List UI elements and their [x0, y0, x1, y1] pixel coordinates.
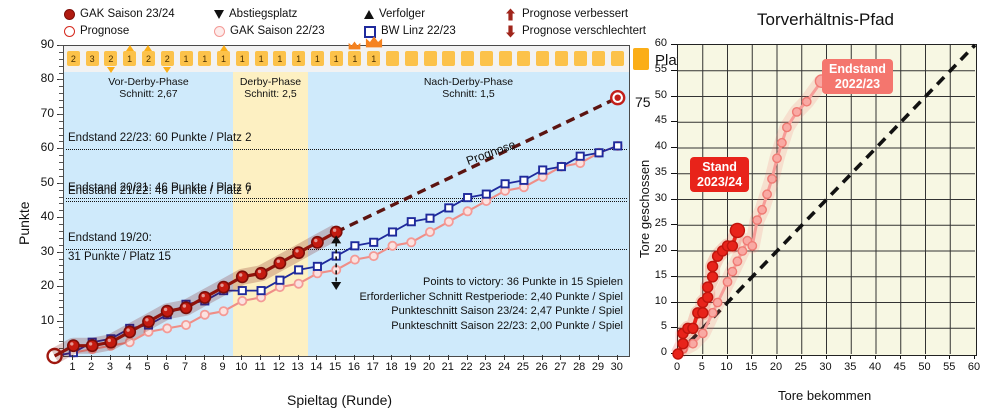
left-x-tick-label: 20	[420, 361, 438, 373]
series-point	[713, 298, 721, 306]
reference-line-label: 31 Punkte / Platz 15	[68, 251, 171, 263]
series-point	[703, 292, 713, 302]
pink-open-circle-icon	[214, 26, 225, 37]
left-x-tick	[166, 355, 167, 360]
platz-marker-box	[633, 48, 649, 70]
right-y-tick	[671, 70, 677, 71]
left-x-tick-label: 28	[570, 361, 588, 373]
left-x-tick-label: 12	[270, 361, 288, 373]
series-point	[502, 180, 509, 187]
right-y-tick	[671, 96, 677, 97]
series-point	[351, 242, 358, 249]
left-x-tick	[316, 355, 317, 360]
left-x-tick-label: 15	[326, 361, 344, 373]
left-x-tick-label: 18	[382, 361, 400, 373]
darkred-filled-circle-icon	[64, 9, 75, 20]
reference-line-label: Endstand 22/23: 60 Punkte / Platz 2	[68, 132, 252, 144]
right-y-tick	[671, 173, 677, 174]
legend-label: Abstiegsplatz	[229, 9, 297, 21]
legend-item-bw-linz: BW Linz 22/23	[364, 26, 504, 38]
left-y-tick-label: 80	[28, 71, 54, 85]
right-x-tick-label: 25	[791, 361, 811, 373]
left-y-tick-label: 20	[28, 278, 54, 292]
tag-line-1: Stand	[697, 160, 742, 175]
series-point-highlight	[239, 273, 242, 276]
right-y-tick-label: 35	[645, 166, 667, 178]
right-x-tick-label: 15	[741, 361, 761, 373]
right-x-tick-label: 10	[717, 361, 737, 373]
series-point-highlight	[314, 239, 317, 242]
legend-label: BW Linz 22/23	[381, 26, 456, 38]
series-point	[763, 190, 771, 198]
left-x-axis-title: Spieltag (Runde)	[287, 392, 392, 408]
right-x-tick	[974, 353, 975, 359]
left-x-tick-label: 8	[195, 361, 213, 373]
series-point	[87, 340, 98, 351]
left-x-tick-label: 22	[458, 361, 476, 373]
legend-label: Verfolger	[379, 9, 425, 21]
series-point	[445, 204, 452, 211]
series-point	[577, 153, 584, 160]
left-x-tick	[91, 355, 92, 360]
series-point	[803, 98, 811, 106]
series-point	[445, 218, 453, 226]
left-x-tick-label: 19	[401, 361, 419, 373]
legend-item-abstiegsplatz: Abstiegsplatz	[214, 9, 364, 21]
left-x-tick	[467, 355, 468, 360]
left-x-tick-label: 29	[589, 361, 607, 373]
series-point	[105, 337, 116, 348]
series-point-highlight	[145, 318, 148, 321]
triangle-down-icon	[214, 10, 224, 19]
series-line	[678, 230, 737, 354]
series-point	[426, 228, 434, 236]
right-x-tick	[776, 353, 777, 359]
left-x-tick	[129, 355, 130, 360]
left-x-tick	[279, 355, 280, 360]
right-x-tick	[925, 353, 926, 359]
series-point	[295, 280, 303, 288]
right-x-tick-label: 20	[766, 361, 786, 373]
series-point-highlight	[295, 249, 298, 252]
series-point	[730, 223, 744, 237]
series-point-highlight	[220, 284, 223, 287]
series-point	[407, 238, 415, 246]
right-plot-area: Stand 2023/24 Endstand 2022/23	[677, 44, 977, 356]
right-y-tick	[671, 327, 677, 328]
left-y-tick-label: 50	[28, 175, 54, 189]
left-x-tick-label: 5	[138, 361, 156, 373]
series-point	[673, 349, 683, 359]
left-x-tick	[110, 355, 111, 360]
left-y-tick-label: 90	[28, 37, 54, 51]
reference-line-label: Endstand 19/20:	[68, 232, 152, 244]
left-x-tick-label: 26	[533, 361, 551, 373]
series-point	[370, 252, 378, 260]
left-x-tick	[523, 355, 524, 360]
triangle-up-icon	[364, 10, 374, 19]
series-point	[426, 215, 433, 222]
right-y-tick-label: 0	[645, 346, 667, 358]
series-point	[738, 247, 746, 255]
left-plot-area: 23212211111111111 Vor-Derby-PhaseSchnitt…	[63, 45, 630, 357]
right-y-tick	[671, 44, 677, 45]
left-y-tick-label: 70	[28, 106, 54, 120]
right-y-tick-label: 10	[645, 295, 667, 307]
legend-label: GAK Saison 22/23	[230, 26, 325, 38]
summary-note-line: Points to victory: 36 Punkte in 15 Spiel…	[359, 275, 623, 290]
left-x-tick	[391, 355, 392, 360]
series-point	[689, 340, 697, 348]
left-x-tick-label: 11	[251, 361, 269, 373]
series-point	[237, 271, 248, 282]
series-point	[199, 292, 210, 303]
series-point	[748, 242, 756, 250]
right-x-tick	[875, 353, 876, 359]
left-x-tick-label: 25	[514, 361, 532, 373]
legend-item-verfolger: Verfolger	[364, 9, 504, 21]
arrow-down-red-icon	[504, 25, 517, 38]
series-point	[723, 241, 733, 251]
left-x-tick	[429, 355, 430, 360]
series-point	[163, 324, 171, 332]
series-point	[708, 261, 718, 271]
tag-line-1: Endstand	[829, 62, 886, 77]
series-point	[239, 287, 246, 294]
series-point-highlight	[126, 328, 129, 331]
left-x-tick	[298, 355, 299, 360]
series-point	[699, 329, 707, 337]
legend-item-prognose-verbessert: Prognose verbessert	[504, 8, 694, 21]
series-point-highlight	[202, 294, 205, 297]
left-x-tick-label: 27	[551, 361, 569, 373]
right-y-tick-label: 30	[645, 192, 667, 204]
series-point	[727, 241, 737, 251]
right-x-tick	[751, 353, 752, 359]
summary-note-line: Erforderlicher Schnitt Restperiode: 2,40…	[359, 290, 623, 305]
tag-stand-2023-24: Stand 2023/24	[690, 157, 749, 192]
left-x-tick	[485, 355, 486, 360]
series-point-highlight	[164, 308, 167, 311]
series-point-highlight	[89, 342, 92, 345]
series-point	[683, 323, 693, 333]
right-y-tick	[671, 302, 677, 303]
series-point	[68, 340, 79, 351]
series-point-highlight	[333, 229, 336, 232]
left-x-tick-label: 13	[289, 361, 307, 373]
series-point	[464, 194, 471, 201]
series-point	[693, 308, 703, 318]
red-open-circle-icon	[64, 26, 75, 37]
tag-line-2: 2023/24	[697, 175, 742, 190]
series-point	[758, 206, 766, 214]
left-x-tick-label: 17	[364, 361, 382, 373]
left-x-tick-label: 24	[495, 361, 513, 373]
series-point	[698, 308, 708, 318]
series-point	[783, 123, 791, 131]
left-y-tick-label: 30	[28, 244, 54, 258]
series-point	[743, 237, 751, 245]
legend-label: GAK Saison 23/24	[80, 9, 175, 21]
series-point	[274, 257, 285, 268]
right-y-tick-label: 60	[645, 37, 667, 49]
left-x-tick	[223, 355, 224, 360]
left-x-tick	[560, 355, 561, 360]
series-point	[768, 175, 776, 183]
series-point	[258, 287, 265, 294]
left-x-tick	[260, 355, 261, 360]
series-point	[388, 242, 396, 250]
right-x-tick-label: 0	[667, 361, 687, 373]
left-x-tick-label: 10	[232, 361, 250, 373]
right-x-tick-label: 5	[692, 361, 712, 373]
left-x-tick	[617, 355, 618, 360]
right-x-tick-label: 40	[865, 361, 885, 373]
left-x-tick-label: 1	[63, 361, 81, 373]
series-point	[688, 323, 698, 333]
series-point	[595, 149, 602, 156]
right-y-tick	[671, 276, 677, 277]
left-x-tick-label: 2	[82, 361, 100, 373]
left-x-tick	[241, 355, 242, 360]
left-y-tick-label: 40	[28, 209, 54, 223]
reference-line-label: Endstand 21/22: 46 Punkte / Platz 7	[68, 185, 252, 197]
left-x-tick-label: 9	[214, 361, 232, 373]
series-point	[815, 75, 827, 87]
prognose-final-value: 75	[635, 94, 651, 110]
series-point	[614, 142, 621, 149]
summary-note-line: Punkteschnitt Saison 22/23: 2,00 Punkte …	[359, 319, 623, 334]
series-point	[312, 237, 323, 248]
left-y-tick-label: 10	[28, 313, 54, 327]
series-line	[683, 81, 822, 349]
legend-item-prognose-verschlechtert: Prognose verschlechtert	[504, 25, 694, 38]
series-point	[124, 326, 135, 337]
left-x-tick-label: 21	[439, 361, 457, 373]
series-point	[162, 306, 173, 317]
right-x-tick	[900, 353, 901, 359]
punkteverlauf-chart: Punkte 0102030405060708090 2321221111111…	[0, 40, 640, 416]
left-x-tick	[185, 355, 186, 360]
platz-label: Platz	[655, 52, 688, 69]
series-point	[143, 316, 154, 327]
right-y-tick	[671, 224, 677, 225]
right-y-tick	[671, 250, 677, 251]
series-point-highlight	[70, 342, 73, 345]
triangle-down-icon	[331, 282, 341, 290]
series-point	[220, 307, 228, 315]
series-glow	[683, 81, 822, 349]
series-point	[182, 321, 190, 329]
left-x-tick	[410, 355, 411, 360]
right-x-tick	[702, 353, 703, 359]
series-point-highlight	[258, 270, 261, 273]
legend-label: Prognose verschlechtert	[522, 26, 646, 38]
legend-label: Prognose	[80, 26, 129, 38]
left-x-tick	[542, 355, 543, 360]
left-x-tick	[448, 355, 449, 360]
series-point	[733, 257, 741, 265]
arrow-up-red-icon	[504, 8, 517, 21]
right-x-tick	[727, 353, 728, 359]
right-x-tick	[677, 353, 678, 359]
right-x-tick	[826, 353, 827, 359]
series-point	[698, 298, 708, 308]
right-x-axis-title: Tore bekommen	[778, 388, 871, 403]
series-point	[728, 267, 736, 275]
series-point	[238, 297, 246, 305]
right-y-tick	[671, 199, 677, 200]
series-point	[703, 282, 713, 292]
series-point	[276, 277, 283, 284]
diagonal-reference-line	[678, 45, 975, 354]
left-x-tick-label: 3	[101, 361, 119, 373]
right-y-tick-label: 25	[645, 217, 667, 229]
series-point	[713, 251, 723, 261]
series-point	[793, 108, 801, 116]
left-x-tick-label: 4	[120, 361, 138, 373]
series-point	[708, 272, 718, 282]
series-glow	[678, 230, 737, 354]
legend-item-gak-2324: GAK Saison 23/24	[64, 9, 214, 21]
series-point	[389, 228, 396, 235]
series-point	[778, 139, 786, 147]
right-x-tick	[949, 353, 950, 359]
right-y-tick-label: 45	[645, 114, 667, 126]
right-x-tick-label: 55	[939, 361, 959, 373]
series-point	[678, 328, 688, 338]
summary-notes: Points to victory: 36 Punkte in 15 Spiel…	[359, 275, 623, 333]
series-point	[201, 311, 209, 319]
series-point	[351, 256, 359, 264]
series-point	[293, 247, 304, 258]
series-point	[408, 218, 415, 225]
left-x-tick	[598, 355, 599, 360]
right-x-tick-label: 30	[816, 361, 836, 373]
right-x-tick-label: 45	[890, 361, 910, 373]
series-point	[678, 339, 688, 349]
series-point	[314, 263, 321, 270]
left-x-tick-label: 6	[157, 361, 175, 373]
left-x-tick-label: 30	[608, 361, 626, 373]
series-point	[483, 191, 490, 198]
series-point	[180, 302, 191, 313]
right-x-tick	[850, 353, 851, 359]
left-x-tick-label: 14	[307, 361, 325, 373]
legend-item-prognose: Prognose	[64, 26, 214, 38]
series-point	[679, 345, 687, 353]
series-point	[256, 268, 267, 279]
right-y-tick-label: 20	[645, 243, 667, 255]
series-point	[615, 95, 621, 101]
series-point	[773, 154, 781, 162]
right-x-tick-label: 50	[915, 361, 935, 373]
left-x-tick	[72, 355, 73, 360]
series-point	[708, 309, 716, 317]
series-point	[520, 177, 527, 184]
series-point	[723, 278, 731, 286]
summary-note-line: Punkteschnitt Saison 23/24: 2,47 Punkte …	[359, 304, 623, 319]
right-chart-title: Torverhältnis-Pfad	[757, 10, 894, 30]
right-y-tick	[671, 147, 677, 148]
left-x-tick	[354, 355, 355, 360]
left-y-tick-label: 60	[28, 140, 54, 154]
left-x-tick	[579, 355, 580, 360]
series-point	[218, 282, 229, 293]
chart-legend: GAK Saison 23/24 Abstiegsplatz Verfolger…	[64, 6, 624, 40]
right-x-tick	[801, 353, 802, 359]
series-point	[464, 207, 472, 215]
series-point-highlight	[277, 260, 280, 263]
right-series-svg	[678, 45, 975, 354]
right-y-tick-label: 15	[645, 269, 667, 281]
left-x-tick-label: 7	[176, 361, 194, 373]
right-y-tick	[671, 121, 677, 122]
right-y-tick-label: 5	[645, 320, 667, 332]
series-point	[753, 216, 761, 224]
legend-label: Prognose verbessert	[522, 9, 628, 21]
series-point-highlight	[183, 304, 186, 307]
right-x-tick-label: 60	[964, 361, 984, 373]
left-x-tick-label: 16	[345, 361, 363, 373]
series-point	[718, 246, 728, 256]
right-y-tick-label: 40	[645, 140, 667, 152]
series-point	[370, 239, 377, 246]
left-x-tick	[335, 355, 336, 360]
series-point	[295, 266, 302, 273]
right-y-tick	[671, 353, 677, 354]
right-x-tick-label: 35	[840, 361, 860, 373]
left-x-tick	[147, 355, 148, 360]
left-x-tick-label: 23	[476, 361, 494, 373]
left-x-tick	[204, 355, 205, 360]
left-x-tick	[373, 355, 374, 360]
legend-item-gak-2223: GAK Saison 22/23	[214, 26, 364, 38]
series-point	[539, 166, 546, 173]
tag-line-2: 2022/23	[829, 77, 886, 92]
series-point	[558, 163, 565, 170]
left-x-tick	[504, 355, 505, 360]
tag-endstand-2022-23: Endstand 2022/23	[822, 59, 893, 94]
series-point-highlight	[108, 339, 111, 342]
